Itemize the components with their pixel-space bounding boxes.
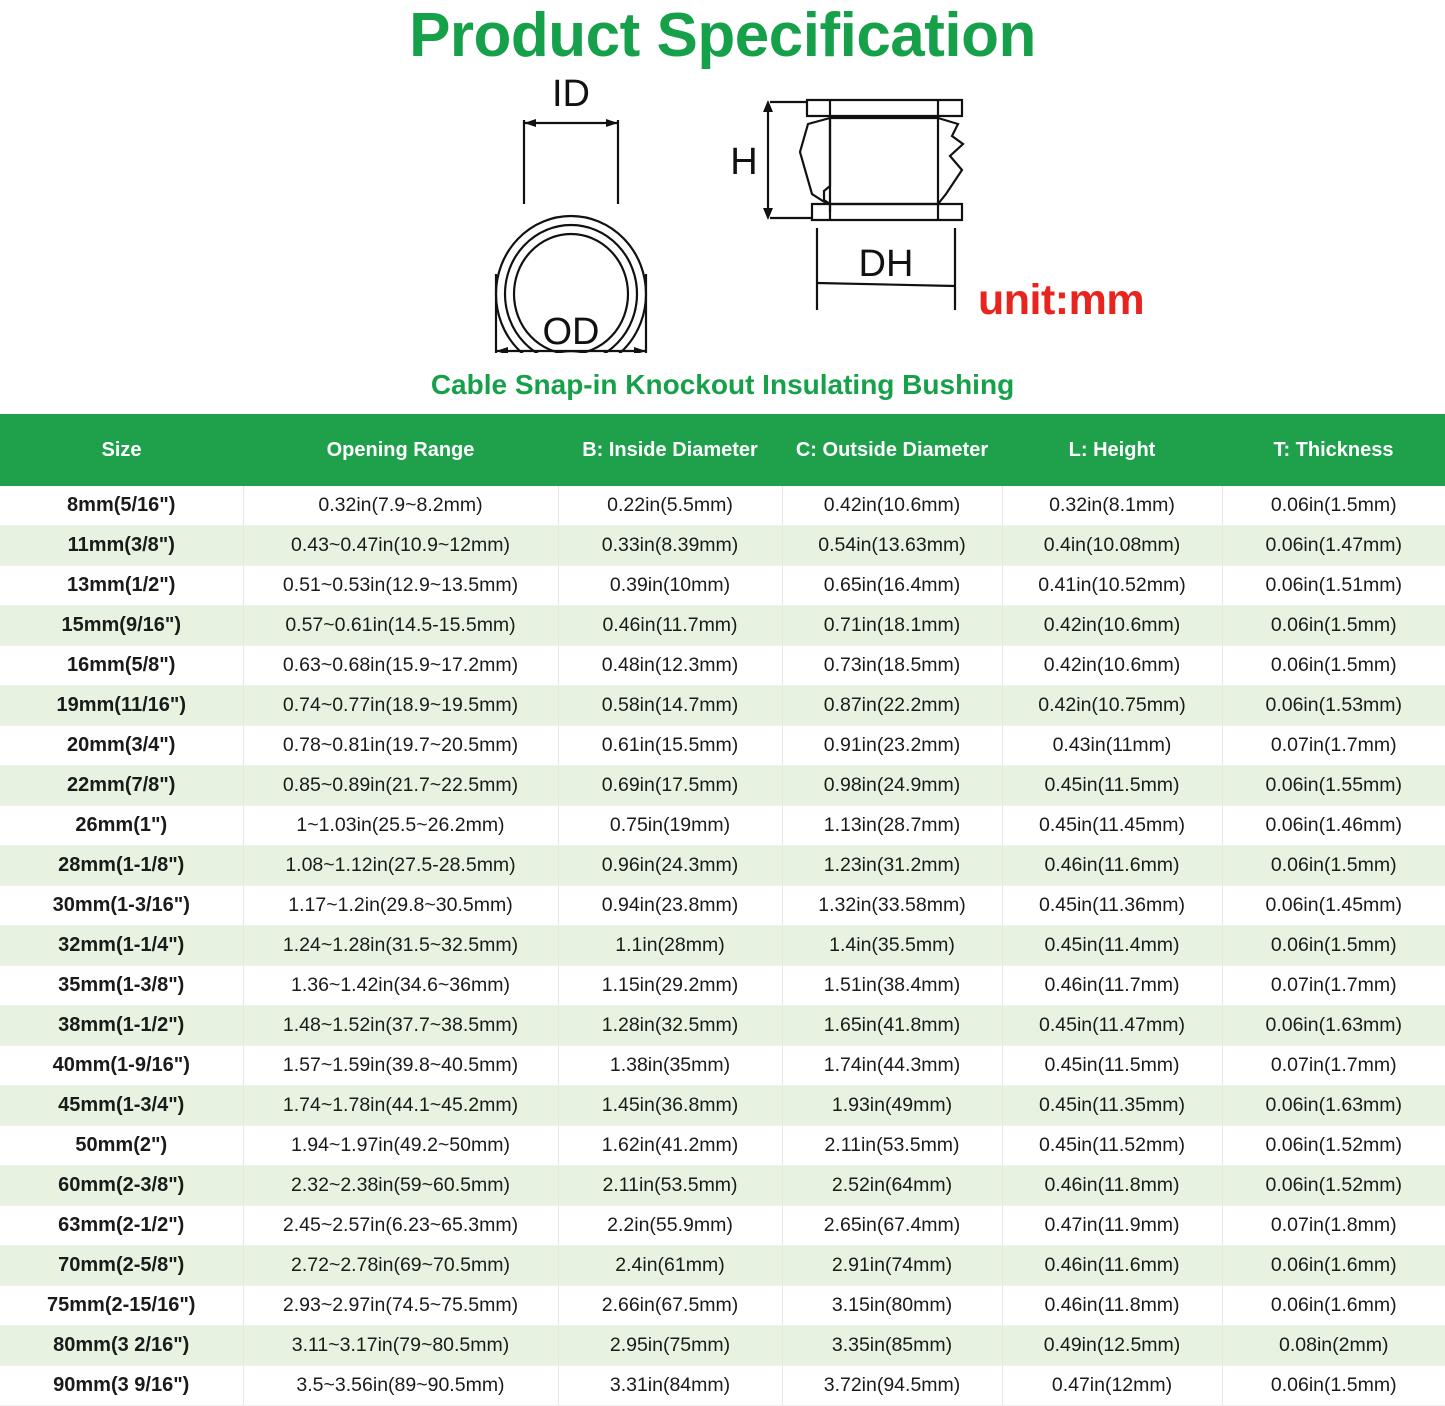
- table-row: 60mm(2-3/8")2.32~2.38in(59~60.5mm)2.11in…: [0, 1166, 1445, 1206]
- table-cell: 0.45in(11.45mm): [1002, 806, 1222, 846]
- table-cell: 2.65in(67.4mm): [782, 1206, 1002, 1246]
- cell-size: 15mm(9/16"): [0, 606, 243, 646]
- table-cell: 0.06in(1.6mm): [1222, 1246, 1445, 1286]
- column-header-inside-diameter: B: Inside Diameter: [558, 414, 782, 486]
- table-cell: 0.06in(1.45mm): [1222, 886, 1445, 926]
- table-cell: 2.2in(55.9mm): [558, 1206, 782, 1246]
- table-cell: 0.45in(11.5mm): [1002, 1046, 1222, 1086]
- table-cell: 0.06in(1.55mm): [1222, 766, 1445, 806]
- cell-size: 19mm(11/16"): [0, 686, 243, 726]
- table-cell: 0.54in(13.63mm): [782, 526, 1002, 566]
- table-cell: 0.06in(1.5mm): [1222, 486, 1445, 526]
- table-cell: 2.11in(53.5mm): [558, 1166, 782, 1206]
- table-cell: 1.36~1.42in(34.6~36mm): [243, 966, 558, 1006]
- column-header-thickness: T: Thickness: [1222, 414, 1445, 486]
- table-cell: 0.48in(12.3mm): [558, 646, 782, 686]
- column-header-outside-diameter: C: Outside Diameter: [782, 414, 1002, 486]
- table-cell: 1.62in(41.2mm): [558, 1126, 782, 1166]
- table-cell: 0.06in(1.52mm): [1222, 1166, 1445, 1206]
- page-title: Product Specification: [0, 0, 1445, 72]
- table-cell: 1.93in(49mm): [782, 1086, 1002, 1126]
- specification-table-container: Size Opening Range B: Inside Diameter C:…: [0, 414, 1445, 1406]
- table-cell: 1.32in(33.58mm): [782, 886, 1002, 926]
- table-cell: 3.35in(85mm): [782, 1326, 1002, 1366]
- table-cell: 0.46in(11.6mm): [1002, 1246, 1222, 1286]
- table-cell: 3.11~3.17in(79~80.5mm): [243, 1326, 558, 1366]
- table-cell: 1.51in(38.4mm): [782, 966, 1002, 1006]
- cell-size: 50mm(2"): [0, 1126, 243, 1166]
- table-cell: 0.42in(10.6mm): [1002, 646, 1222, 686]
- table-cell: 0.65in(16.4mm): [782, 566, 1002, 606]
- table-cell: 0.85~0.89in(21.7~22.5mm): [243, 766, 558, 806]
- cell-size: 75mm(2-15/16"): [0, 1286, 243, 1326]
- table-cell: 0.22in(5.5mm): [558, 486, 782, 526]
- table-cell: 0.33in(8.39mm): [558, 526, 782, 566]
- table-cell: 0.06in(1.51mm): [1222, 566, 1445, 606]
- cell-size: 22mm(7/8"): [0, 766, 243, 806]
- table-row: 35mm(1-3/8")1.36~1.42in(34.6~36mm)1.15in…: [0, 966, 1445, 1006]
- table-cell: 1.1in(28mm): [558, 926, 782, 966]
- table-cell: 3.15in(80mm): [782, 1286, 1002, 1326]
- table-cell: 2.52in(64mm): [782, 1166, 1002, 1206]
- table-cell: 0.06in(1.5mm): [1222, 606, 1445, 646]
- table-cell: 0.06in(1.47mm): [1222, 526, 1445, 566]
- cell-size: 38mm(1-1/2"): [0, 1006, 243, 1046]
- table-cell: 3.72in(94.5mm): [782, 1366, 1002, 1406]
- table-cell: 0.96in(24.3mm): [558, 846, 782, 886]
- table-cell: 0.4in(10.08mm): [1002, 526, 1222, 566]
- table-cell: 0.42in(10.6mm): [782, 486, 1002, 526]
- table-cell: 0.61in(15.5mm): [558, 726, 782, 766]
- table-row: 16mm(5/8")0.63~0.68in(15.9~17.2mm)0.48in…: [0, 646, 1445, 686]
- table-cell: 0.94in(23.8mm): [558, 886, 782, 926]
- table-cell: 0.46in(11.6mm): [1002, 846, 1222, 886]
- column-header-size: Size: [0, 414, 243, 486]
- cell-size: 80mm(3 2/16"): [0, 1326, 243, 1366]
- table-cell: 0.07in(1.8mm): [1222, 1206, 1445, 1246]
- table-cell: 1.57~1.59in(39.8~40.5mm): [243, 1046, 558, 1086]
- table-cell: 0.43in(11mm): [1002, 726, 1222, 766]
- table-cell: 0.47in(11.9mm): [1002, 1206, 1222, 1246]
- table-cell: 0.51~0.53in(12.9~13.5mm): [243, 566, 558, 606]
- cell-size: 70mm(2-5/8"): [0, 1246, 243, 1286]
- cell-size: 32mm(1-1/4"): [0, 926, 243, 966]
- table-cell: 2.32~2.38in(59~60.5mm): [243, 1166, 558, 1206]
- table-cell: 0.06in(1.46mm): [1222, 806, 1445, 846]
- table-cell: 1.23in(31.2mm): [782, 846, 1002, 886]
- table-cell: 0.32in(7.9~8.2mm): [243, 486, 558, 526]
- table-header: Size Opening Range B: Inside Diameter C:…: [0, 414, 1445, 486]
- table-cell: 0.06in(1.6mm): [1222, 1286, 1445, 1326]
- table-cell: 0.07in(1.7mm): [1222, 1046, 1445, 1086]
- table-row: 22mm(7/8")0.85~0.89in(21.7~22.5mm)0.69in…: [0, 766, 1445, 806]
- table-cell: 0.71in(18.1mm): [782, 606, 1002, 646]
- specification-table: Size Opening Range B: Inside Diameter C:…: [0, 414, 1445, 1406]
- dimension-drawing-svg: ID OD H DH: [0, 78, 1445, 353]
- table-cell: 2.4in(61mm): [558, 1246, 782, 1286]
- cell-size: 30mm(1-3/16"): [0, 886, 243, 926]
- table-row: 26mm(1")1~1.03in(25.5~26.2mm)0.75in(19mm…: [0, 806, 1445, 846]
- table-cell: 0.45in(11.35mm): [1002, 1086, 1222, 1126]
- cell-size: 40mm(1-9/16"): [0, 1046, 243, 1086]
- table-cell: 2.66in(67.5mm): [558, 1286, 782, 1326]
- table-row: 8mm(5/16")0.32in(7.9~8.2mm)0.22in(5.5mm)…: [0, 486, 1445, 526]
- table-cell: 0.06in(1.5mm): [1222, 1366, 1445, 1406]
- table-row: 63mm(2-1/2")2.45~2.57in(6.23~65.3mm)2.2i…: [0, 1206, 1445, 1246]
- table-row: 50mm(2")1.94~1.97in(49.2~50mm)1.62in(41.…: [0, 1126, 1445, 1166]
- table-cell: 1.13in(28.7mm): [782, 806, 1002, 846]
- table-cell: 0.41in(10.52mm): [1002, 566, 1222, 606]
- table-cell: 0.06in(1.5mm): [1222, 846, 1445, 886]
- cell-size: 60mm(2-3/8"): [0, 1166, 243, 1206]
- table-cell: 1.48~1.52in(37.7~38.5mm): [243, 1006, 558, 1046]
- cell-size: 20mm(3/4"): [0, 726, 243, 766]
- table-cell: 2.95in(75mm): [558, 1326, 782, 1366]
- table-cell: 0.46in(11.7mm): [558, 606, 782, 646]
- unit-note: unit:mm: [978, 276, 1144, 325]
- table-cell: 2.72~2.78in(69~70.5mm): [243, 1246, 558, 1286]
- table-cell: 0.06in(1.63mm): [1222, 1086, 1445, 1126]
- table-cell: 2.93~2.97in(74.5~75.5mm): [243, 1286, 558, 1326]
- table-row: 28mm(1-1/8")1.08~1.12in(27.5-28.5mm)0.96…: [0, 846, 1445, 886]
- product-dimension-diagram: ID OD H DH ID OD H DH unit:mm: [0, 78, 1445, 353]
- table-cell: 0.87in(22.2mm): [782, 686, 1002, 726]
- table-cell: 0.98in(24.9mm): [782, 766, 1002, 806]
- table-cell: 2.45~2.57in(6.23~65.3mm): [243, 1206, 558, 1246]
- table-cell: 0.69in(17.5mm): [558, 766, 782, 806]
- table-caption: Cable Snap-in Knockout Insulating Bushin…: [0, 368, 1445, 402]
- table-header-row: Size Opening Range B: Inside Diameter C:…: [0, 414, 1445, 486]
- table-cell: 1.38in(35mm): [558, 1046, 782, 1086]
- table-cell: 0.78~0.81in(19.7~20.5mm): [243, 726, 558, 766]
- table-cell: 0.45in(11.36mm): [1002, 886, 1222, 926]
- cell-size: 11mm(3/8"): [0, 526, 243, 566]
- table-cell: 0.39in(10mm): [558, 566, 782, 606]
- table-cell: 0.45in(11.52mm): [1002, 1126, 1222, 1166]
- table-row: 15mm(9/16")0.57~0.61in(14.5-15.5mm)0.46i…: [0, 606, 1445, 646]
- column-header-height: L: Height: [1002, 414, 1222, 486]
- table-cell: 3.31in(84mm): [558, 1366, 782, 1406]
- table-cell: 0.32in(8.1mm): [1002, 486, 1222, 526]
- table-cell: 0.75in(19mm): [558, 806, 782, 846]
- table-cell: 1.74~1.78in(44.1~45.2mm): [243, 1086, 558, 1126]
- table-row: 32mm(1-1/4")1.24~1.28in(31.5~32.5mm)1.1i…: [0, 926, 1445, 966]
- table-cell: 0.07in(1.7mm): [1222, 966, 1445, 1006]
- table-cell: 0.45in(11.47mm): [1002, 1006, 1222, 1046]
- table-row: 45mm(1-3/4")1.74~1.78in(44.1~45.2mm)1.45…: [0, 1086, 1445, 1126]
- table-cell: 0.06in(1.5mm): [1222, 926, 1445, 966]
- table-cell: 1.08~1.12in(27.5-28.5mm): [243, 846, 558, 886]
- table-cell: 0.46in(11.7mm): [1002, 966, 1222, 1006]
- cell-size: 13mm(1/2"): [0, 566, 243, 606]
- table-row: 11mm(3/8")0.43~0.47in(10.9~12mm)0.33in(8…: [0, 526, 1445, 566]
- table-row: 13mm(1/2")0.51~0.53in(12.9~13.5mm)0.39in…: [0, 566, 1445, 606]
- table-cell: 0.43~0.47in(10.9~12mm): [243, 526, 558, 566]
- table-cell: 2.11in(53.5mm): [782, 1126, 1002, 1166]
- table-cell: 0.58in(14.7mm): [558, 686, 782, 726]
- cell-size: 8mm(5/16"): [0, 486, 243, 526]
- table-cell: 0.63~0.68in(15.9~17.2mm): [243, 646, 558, 686]
- table-row: 30mm(1-3/16")1.17~1.2in(29.8~30.5mm)0.94…: [0, 886, 1445, 926]
- table-cell: 0.45in(11.4mm): [1002, 926, 1222, 966]
- cell-size: 28mm(1-1/8"): [0, 846, 243, 886]
- table-row: 70mm(2-5/8")2.72~2.78in(69~70.5mm)2.4in(…: [0, 1246, 1445, 1286]
- cell-size: 26mm(1"): [0, 806, 243, 846]
- table-cell: 1.65in(41.8mm): [782, 1006, 1002, 1046]
- table-cell: 1.94~1.97in(49.2~50mm): [243, 1126, 558, 1166]
- table-cell: 0.06in(1.5mm): [1222, 646, 1445, 686]
- table-cell: 0.06in(1.63mm): [1222, 1006, 1445, 1046]
- table-cell: 3.5~3.56in(89~90.5mm): [243, 1366, 558, 1406]
- table-cell: 1.15in(29.2mm): [558, 966, 782, 1006]
- table-cell: 0.91in(23.2mm): [782, 726, 1002, 766]
- table-row: 90mm(3 9/16")3.5~3.56in(89~90.5mm)3.31in…: [0, 1366, 1445, 1406]
- table-cell: 1.4in(35.5mm): [782, 926, 1002, 966]
- table-cell: 0.45in(11.5mm): [1002, 766, 1222, 806]
- cell-size: 16mm(5/8"): [0, 646, 243, 686]
- table-cell: 0.47in(12mm): [1002, 1366, 1222, 1406]
- table-row: 75mm(2-15/16")2.93~2.97in(74.5~75.5mm)2.…: [0, 1286, 1445, 1326]
- table-cell: 1.17~1.2in(29.8~30.5mm): [243, 886, 558, 926]
- table-cell: 0.42in(10.75mm): [1002, 686, 1222, 726]
- table-cell: 1.24~1.28in(31.5~32.5mm): [243, 926, 558, 966]
- table-row: 20mm(3/4")0.78~0.81in(19.7~20.5mm)0.61in…: [0, 726, 1445, 766]
- table-cell: 0.46in(11.8mm): [1002, 1286, 1222, 1326]
- table-cell: 0.07in(1.7mm): [1222, 726, 1445, 766]
- product-specification-page: Product Specification: [0, 0, 1445, 1392]
- table-row: 38mm(1-1/2")1.48~1.52in(37.7~38.5mm)1.28…: [0, 1006, 1445, 1046]
- cell-size: 63mm(2-1/2"): [0, 1206, 243, 1246]
- table-cell: 0.06in(1.53mm): [1222, 686, 1445, 726]
- table-body: 8mm(5/16")0.32in(7.9~8.2mm)0.22in(5.5mm)…: [0, 486, 1445, 1406]
- table-cell: 1.45in(36.8mm): [558, 1086, 782, 1126]
- column-header-opening-range: Opening Range: [243, 414, 558, 486]
- cell-size: 45mm(1-3/4"): [0, 1086, 243, 1126]
- table-cell: 0.46in(11.8mm): [1002, 1166, 1222, 1206]
- table-row: 40mm(1-9/16")1.57~1.59in(39.8~40.5mm)1.3…: [0, 1046, 1445, 1086]
- table-cell: 0.42in(10.6mm): [1002, 606, 1222, 646]
- table-cell: 0.06in(1.52mm): [1222, 1126, 1445, 1166]
- cell-size: 90mm(3 9/16"): [0, 1366, 243, 1406]
- table-cell: 0.49in(12.5mm): [1002, 1326, 1222, 1366]
- table-cell: 0.57~0.61in(14.5-15.5mm): [243, 606, 558, 646]
- table-cell: 1~1.03in(25.5~26.2mm): [243, 806, 558, 846]
- table-cell: 1.74in(44.3mm): [782, 1046, 1002, 1086]
- table-cell: 0.74~0.77in(18.9~19.5mm): [243, 686, 558, 726]
- table-cell: 2.91in(74mm): [782, 1246, 1002, 1286]
- table-cell: 0.73in(18.5mm): [782, 646, 1002, 686]
- table-cell: 0.08in(2mm): [1222, 1326, 1445, 1366]
- table-row: 19mm(11/16")0.74~0.77in(18.9~19.5mm)0.58…: [0, 686, 1445, 726]
- table-row: 80mm(3 2/16")3.11~3.17in(79~80.5mm)2.95i…: [0, 1326, 1445, 1366]
- cell-size: 35mm(1-3/8"): [0, 966, 243, 1006]
- table-cell: 1.28in(32.5mm): [558, 1006, 782, 1046]
